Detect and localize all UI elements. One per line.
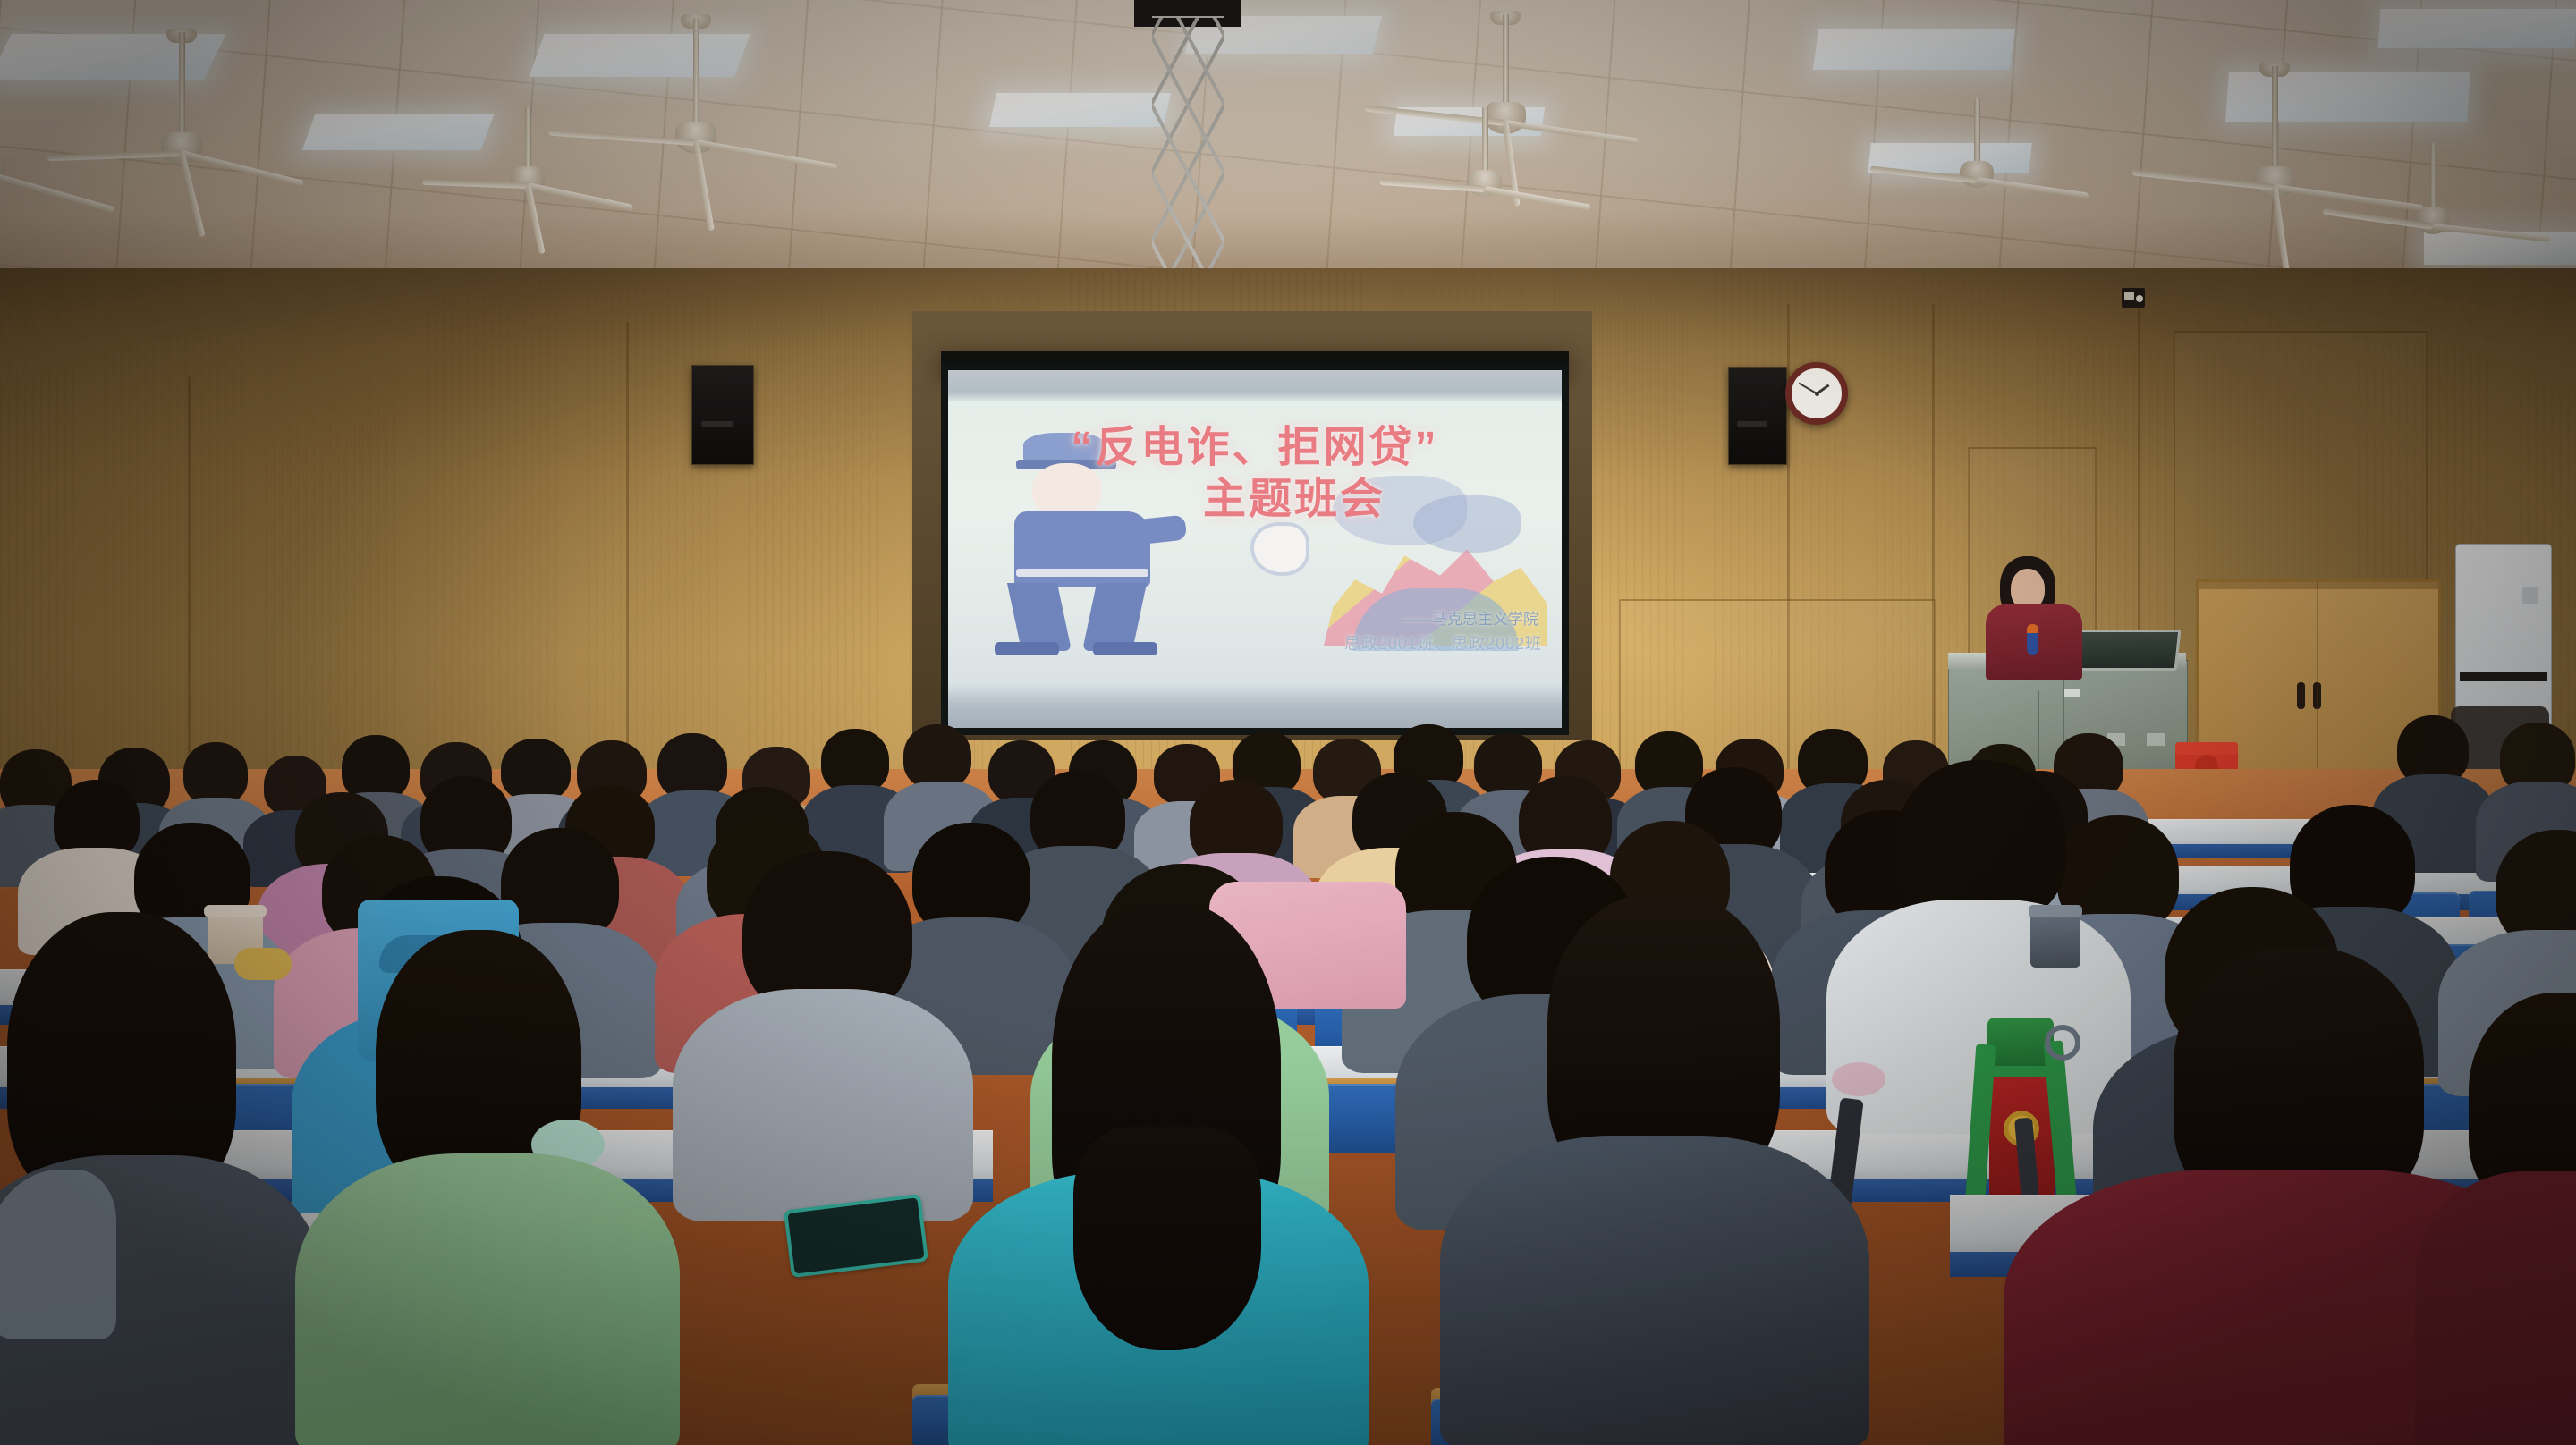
microphone [2027, 624, 2038, 655]
slide-classes: 思政2001班、思政2002班 [1344, 631, 1542, 655]
projection-screen: “反电诈、拒网贷” 主题班会 ——马克思主义学院 思政2001班、思政2002班 [948, 370, 1562, 728]
slide-title-line1: “反电诈、拒网贷” [948, 426, 1562, 470]
slide-organizer: ——马克思主义学院 [1402, 606, 1538, 629]
ceiling-fan [2415, 143, 2451, 225]
security-camera [2122, 288, 2145, 308]
foreground-student-right-edge [2433, 993, 2576, 1445]
ceiling-fan [161, 32, 202, 153]
ceiling-fan [675, 18, 716, 143]
foreground-student-navy [1449, 894, 1860, 1445]
presenter [1980, 556, 2088, 672]
foreground-student-left [0, 912, 340, 1445]
lecture-hall-photo: “反电诈、拒网贷” 主题班会 ——马克思主义学院 思政2001班、思政2002班 [0, 0, 2576, 1445]
projection-screen-frame: “反电诈、拒网贷” 主题班会 ——马克思主义学院 思政2001班、思政2002班 [941, 363, 1569, 735]
ceiling-fan [1485, 14, 1526, 122]
slide-title-line2: 主题班会 [948, 477, 1562, 522]
ceiling-fan [1959, 98, 1995, 179]
wall-clock [1785, 362, 1848, 425]
wall-speaker [691, 365, 754, 465]
slide-decor-coin [1250, 522, 1309, 576]
door-handle [2297, 682, 2305, 709]
podium-label [2064, 689, 2080, 697]
foreground-student-cyan [966, 903, 1360, 1445]
scissor-lift-arm [1152, 16, 1224, 279]
ceiling-fan [0, 72, 5, 170]
foreground-student-green [304, 930, 680, 1445]
ceiling-fan [2254, 66, 2295, 187]
ceiling-fan [510, 107, 546, 183]
hood [0, 1170, 116, 1339]
podium-vent [2147, 733, 2165, 746]
ceiling-fan [1467, 107, 1503, 188]
clock-center [1815, 392, 1819, 396]
wall-speaker [1728, 367, 1787, 465]
